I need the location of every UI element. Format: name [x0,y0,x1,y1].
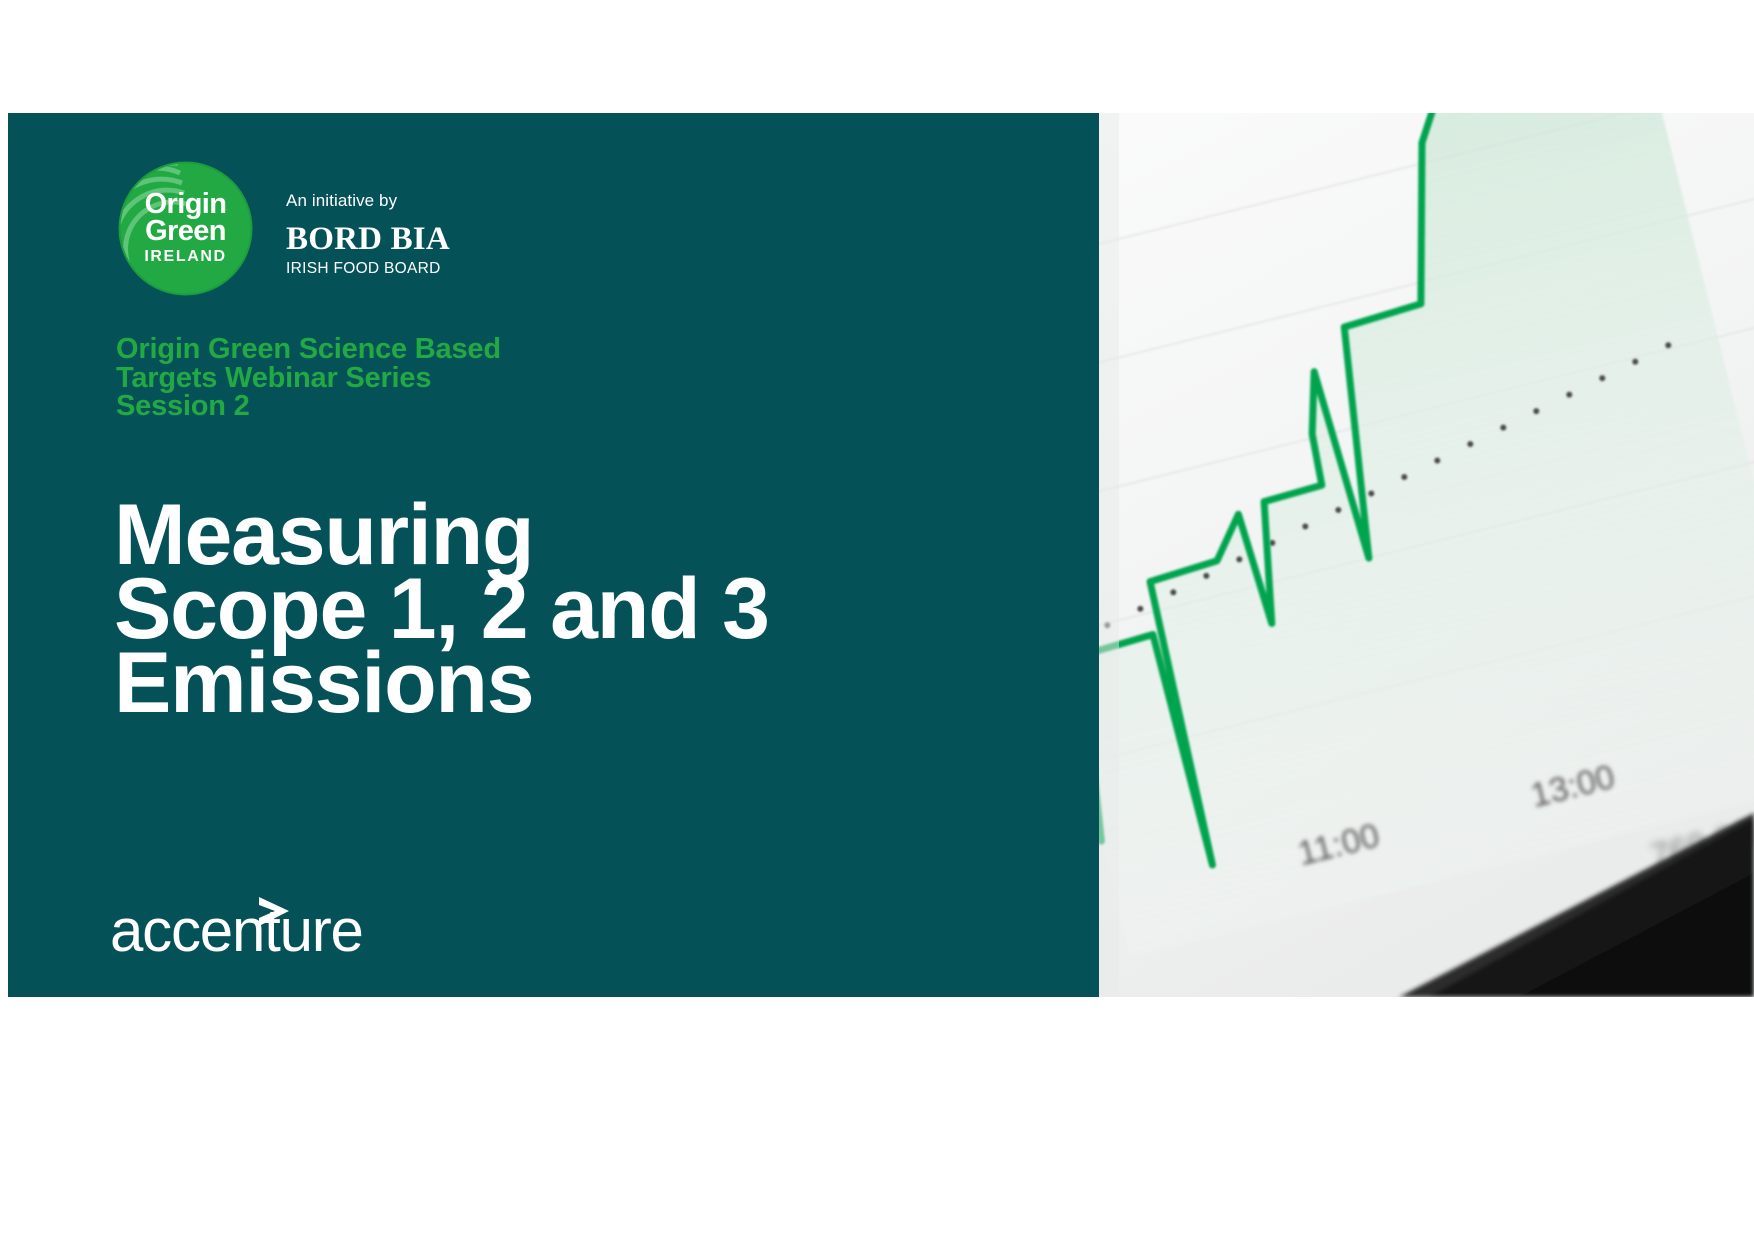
stock-chart-photo: 11:00 13:00 769.00 [1099,113,1754,997]
page-title: Measuring Scope 1, 2 and 3 Emissions [114,498,769,720]
logo-lockup: Origin Green IRELAND An initiative by BO… [118,161,450,296]
slide-canvas: Origin Green IRELAND An initiative by BO… [8,113,1754,997]
bord-bia-subtitle: IRISH FOOD BOARD [286,260,450,278]
left-content-panel: Origin Green IRELAND An initiative by BO… [8,113,1099,997]
origin-green-logo-icon: Origin Green IRELAND [118,161,253,296]
bord-bia-lockup: An initiative by BORD BIA IRISH FOOD BOA… [286,191,450,278]
greater-than-icon [257,897,291,927]
kicker-line-2: Targets Webinar Series [116,364,501,393]
initiative-label: An initiative by [286,191,450,211]
kicker-line-3: Session 2 [116,392,501,421]
accenture-logo: accenture [110,901,410,971]
bord-bia-name: BORD BIA [286,223,450,256]
title-line-3: Emissions [114,646,769,720]
kicker-line-1: Origin Green Science Based [116,335,501,364]
series-kicker: Origin Green Science Based Targets Webin… [116,335,501,421]
